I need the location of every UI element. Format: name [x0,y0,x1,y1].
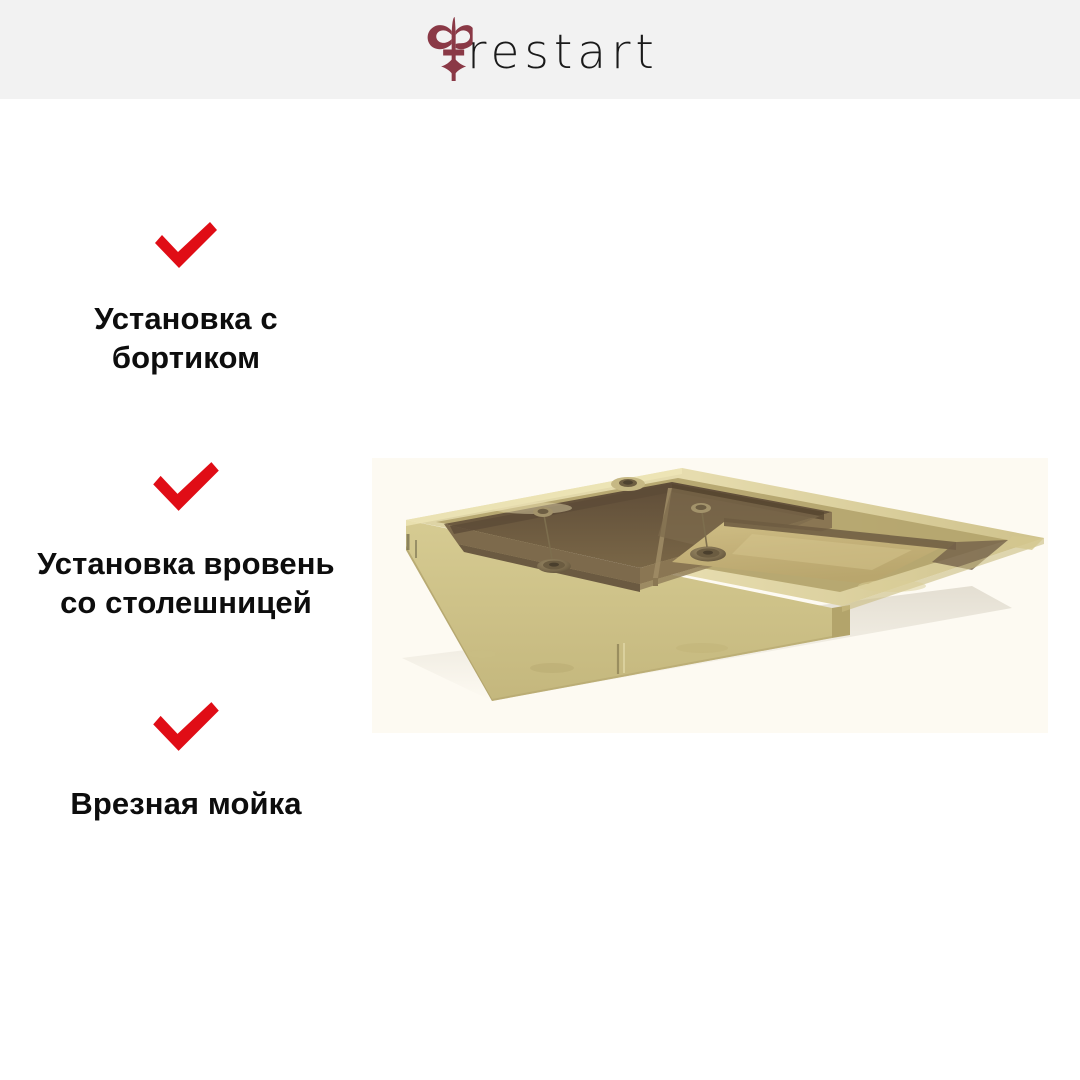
feature-label: Врезная мойка [0,784,372,823]
brass-sink-illustration [372,458,1048,733]
feature-label: Установка с бортиком [0,299,372,378]
check-icon [152,219,220,271]
feature-item: Установка вровень со столешницей [0,459,372,623]
header-band: restart [0,0,1080,99]
feature-item: Установка с бортиком [0,219,372,378]
feature-item: Врезная мойка [0,699,372,823]
fleur-de-lis-icon [421,17,473,83]
brand-logo[interactable]: restart [421,14,659,86]
check-icon [150,699,222,754]
feature-list: Установка с бортиком Установка вровень с… [0,99,372,1080]
check-icon [150,459,222,514]
logo-wordmark: restart [467,29,659,76]
feature-label: Установка вровень со столешницей [0,544,372,623]
product-photo [372,458,1048,733]
